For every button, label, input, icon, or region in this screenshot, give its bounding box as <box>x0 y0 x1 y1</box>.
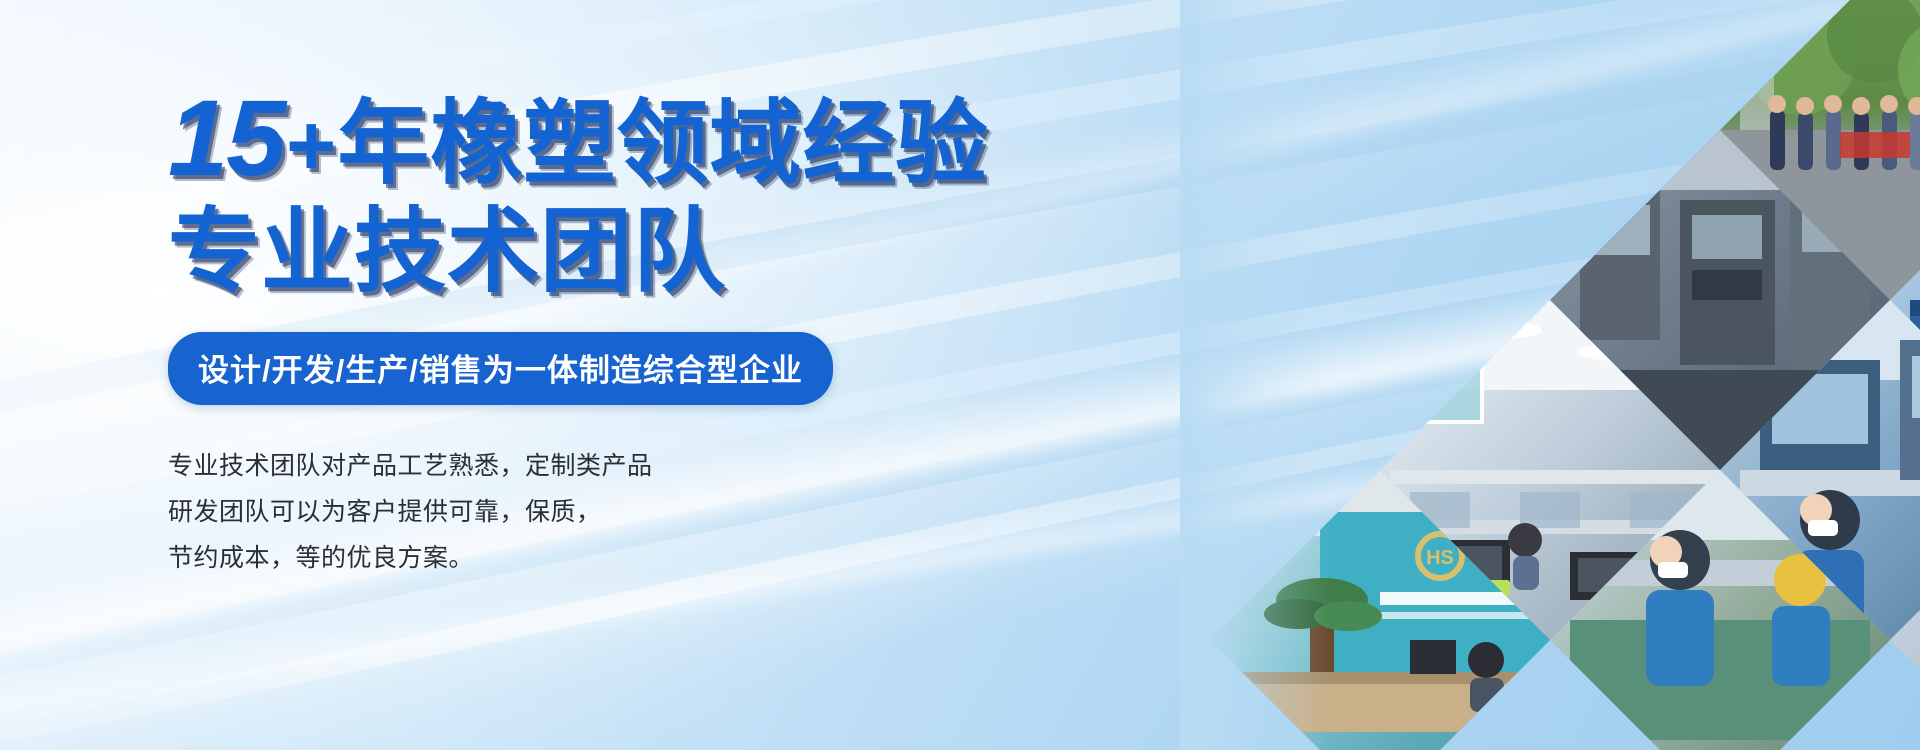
headline-line-2: 专业技术团队 <box>168 206 928 298</box>
body-line-3: 节约成本，等的优良方案。 <box>168 535 928 581</box>
promo-banner: HS <box>0 0 1920 750</box>
body-line-2: 研发团队可以为客户提供可靠，保质， <box>168 489 928 535</box>
headline: 15+年橡塑领域经验 专业技术团队 <box>168 84 928 298</box>
headline-number: 15 <box>168 77 286 198</box>
tagline-pill: 设计/开发/生产/销售为一体制造综合型企业 <box>168 332 833 405</box>
body-line-1: 专业技术团队对产品工艺熟悉，定制类产品 <box>168 443 928 489</box>
headline-plus-sign: + <box>286 98 337 194</box>
headline-line-1-text: 年橡塑领域经验 <box>337 93 988 195</box>
text-content-column: 15+年橡塑领域经验 专业技术团队 设计/开发/生产/销售为一体制造综合型企业 … <box>168 84 928 581</box>
headline-line-1: 15+年橡塑领域经验 <box>168 84 928 192</box>
body-paragraph: 专业技术团队对产品工艺熟悉，定制类产品 研发团队可以为客户提供可靠，保质， 节约… <box>168 443 928 581</box>
